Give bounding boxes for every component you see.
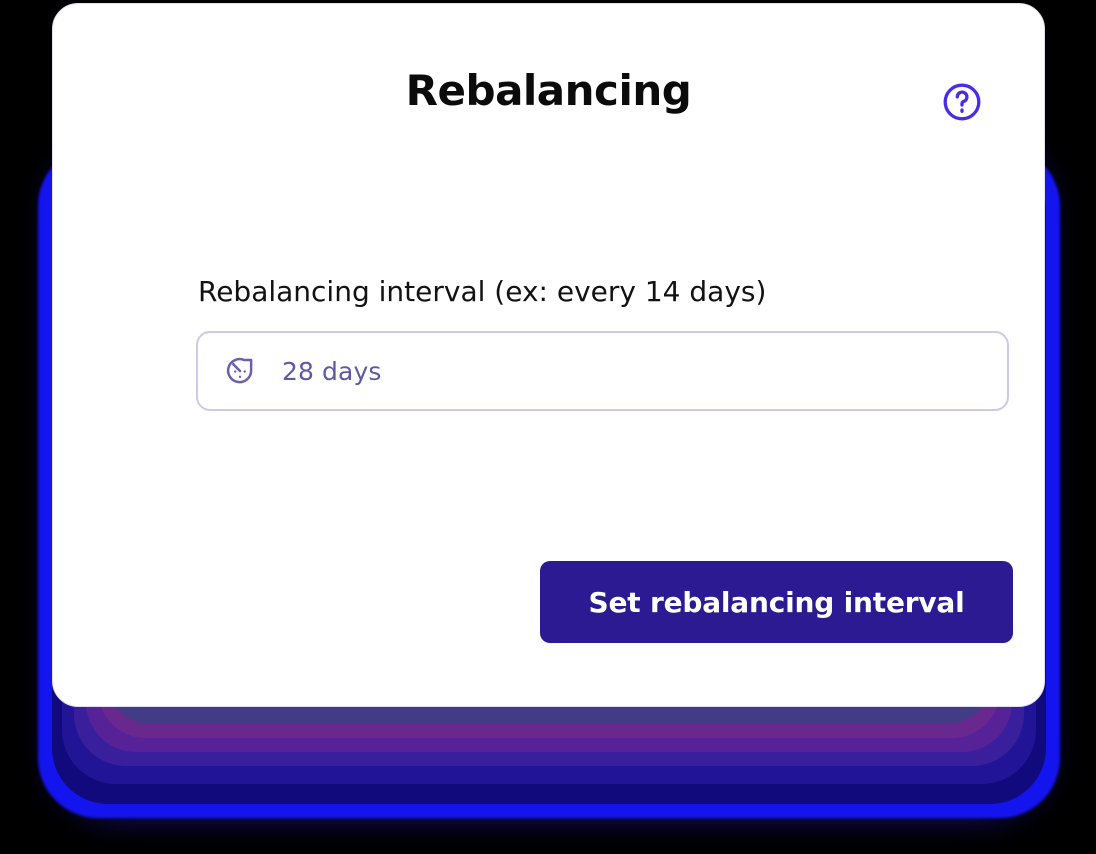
page-title: Rebalancing (53, 70, 1044, 112)
question-mark-circle-icon (941, 81, 983, 123)
set-rebalancing-interval-button[interactable]: Set rebalancing interval (540, 561, 1013, 643)
dialog-header: Rebalancing (53, 4, 1044, 174)
rebalancing-interval-label: Rebalancing interval (ex: every 14 days) (198, 276, 766, 308)
screen-background: Rebalancing Rebalancing interval (ex: ev… (0, 0, 1096, 854)
rebalancing-interval-input[interactable]: 28 days (196, 331, 1009, 411)
rebalancing-dialog-card: Rebalancing Rebalancing interval (ex: ev… (52, 3, 1045, 707)
help-button[interactable] (940, 80, 984, 124)
rebalancing-interval-value: 28 days (282, 357, 381, 386)
timer-icon (224, 355, 256, 387)
